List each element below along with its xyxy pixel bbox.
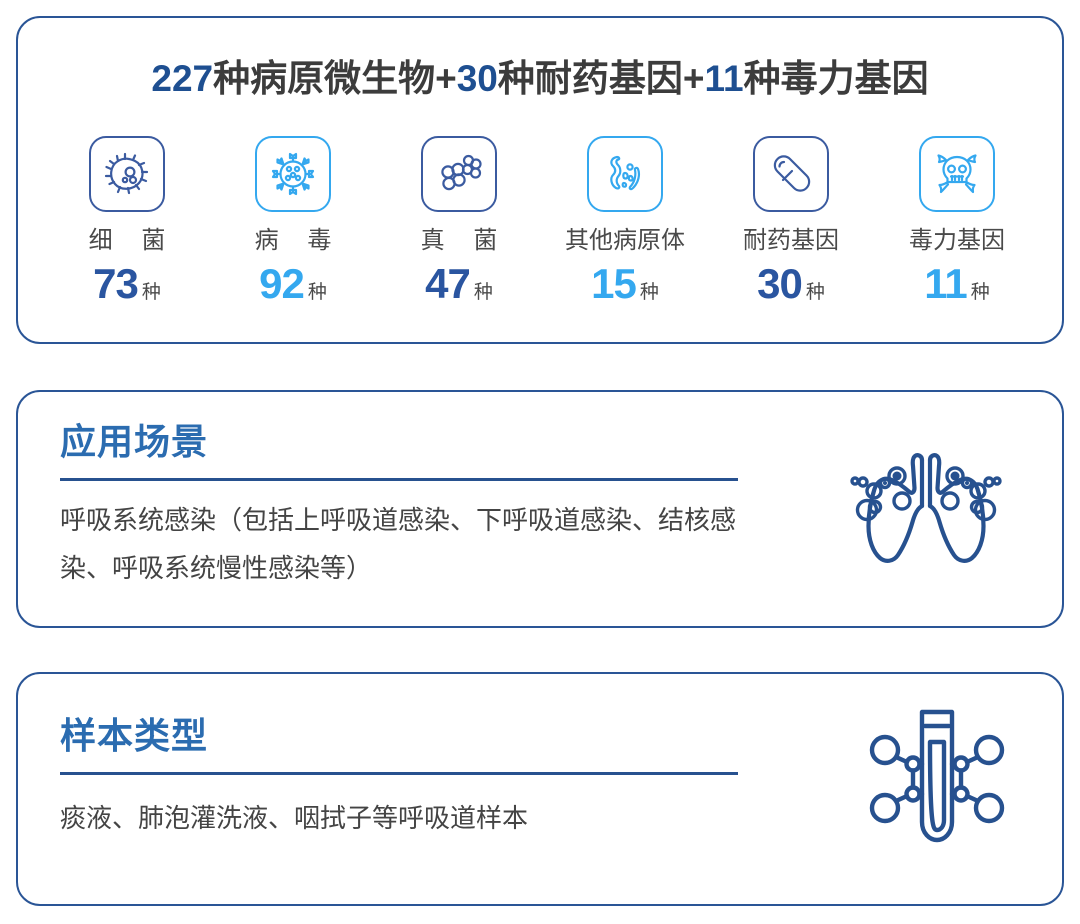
sample-title: 样本类型 bbox=[60, 718, 208, 754]
virus-tile bbox=[255, 136, 331, 212]
stat-number: 15 bbox=[591, 263, 636, 305]
stat-value: 11 种 bbox=[924, 263, 989, 305]
test-tube-icon bbox=[862, 700, 1012, 865]
stat-value: 30 种 bbox=[757, 263, 825, 305]
stat-value: 15 种 bbox=[591, 263, 659, 305]
stat-value: 47 种 bbox=[425, 263, 493, 305]
headline-number: 227 bbox=[151, 58, 213, 99]
stat-item-other-pathogen: 其他病原体 15 种 bbox=[542, 136, 708, 305]
skull-tile bbox=[919, 136, 995, 212]
stat-unit: 种 bbox=[308, 283, 327, 302]
sample-body-text: 痰液、肺泡灌洗液、咽拭子等呼吸道样本 bbox=[60, 794, 760, 842]
headline-number: 11 bbox=[704, 58, 743, 99]
stat-row: 细 菌 73 种 bbox=[44, 136, 1040, 305]
headline-number: 30 bbox=[457, 58, 498, 99]
stat-number: 92 bbox=[259, 263, 304, 305]
stat-value: 92 种 bbox=[259, 263, 327, 305]
stat-unit: 种 bbox=[640, 283, 659, 302]
headline-text: 种毒力基因 bbox=[744, 58, 929, 99]
page-title: 227种病原微生物+30种耐药基因+11种毒力基因 bbox=[18, 48, 1062, 102]
scene-title: 应用场景 bbox=[60, 424, 208, 460]
pathogen-panel-card: 227种病原微生物+30种耐药基因+11种毒力基因 bbox=[16, 16, 1064, 344]
stat-label: 真 菌 bbox=[410, 229, 509, 253]
bacteria-icon bbox=[102, 149, 152, 199]
stat-label: 病 毒 bbox=[244, 229, 343, 253]
stat-unit: 种 bbox=[971, 283, 990, 302]
stat-unit: 种 bbox=[142, 283, 161, 302]
bacteria-tile bbox=[89, 136, 165, 212]
other-pathogen-tile bbox=[587, 136, 663, 212]
headline-segment: 227种病原微生物+30种耐药基因+11种毒力基因 bbox=[151, 58, 928, 99]
stat-item-bacteria: 细 菌 73 种 bbox=[44, 136, 210, 305]
scene-body-text: 呼吸系统感染（包括上呼吸道感染、下呼吸道感染、结核感染、呼吸系统慢性感染等） bbox=[60, 496, 760, 592]
headline-text: 种病原微生物+ bbox=[213, 58, 457, 99]
stat-item-virulence: 毒力基因 11 种 bbox=[874, 136, 1040, 305]
capsule-tile bbox=[753, 136, 829, 212]
fungus-tile bbox=[421, 136, 497, 212]
stat-label: 耐药基因 bbox=[743, 229, 839, 253]
other-pathogen-icon bbox=[600, 149, 650, 199]
stat-number: 30 bbox=[757, 263, 802, 305]
stat-item-drug-resistance: 耐药基因 30 种 bbox=[708, 136, 874, 305]
stat-number: 11 bbox=[924, 263, 966, 305]
sample-divider bbox=[60, 772, 738, 775]
stat-unit: 种 bbox=[806, 283, 825, 302]
stat-number: 47 bbox=[425, 263, 470, 305]
stat-label: 其他病原体 bbox=[565, 229, 685, 253]
stat-item-fungus: 真 菌 47 种 bbox=[376, 136, 542, 305]
capsule-icon bbox=[766, 149, 816, 199]
headline-text: 种耐药基因+ bbox=[498, 58, 705, 99]
stat-number: 73 bbox=[93, 263, 138, 305]
stat-label: 毒力基因 bbox=[909, 229, 1005, 253]
lungs-icon bbox=[846, 448, 1006, 583]
stat-label: 细 菌 bbox=[78, 229, 177, 253]
scene-divider bbox=[60, 478, 738, 481]
stat-item-virus: 病 毒 92 种 bbox=[210, 136, 376, 305]
stat-value: 73 种 bbox=[93, 263, 161, 305]
skull-icon bbox=[932, 149, 982, 199]
fungus-icon bbox=[434, 149, 484, 199]
infographic-page: 227种病原微生物+30种耐药基因+11种毒力基因 bbox=[0, 0, 1080, 924]
virus-icon bbox=[268, 149, 318, 199]
stat-unit: 种 bbox=[474, 283, 493, 302]
